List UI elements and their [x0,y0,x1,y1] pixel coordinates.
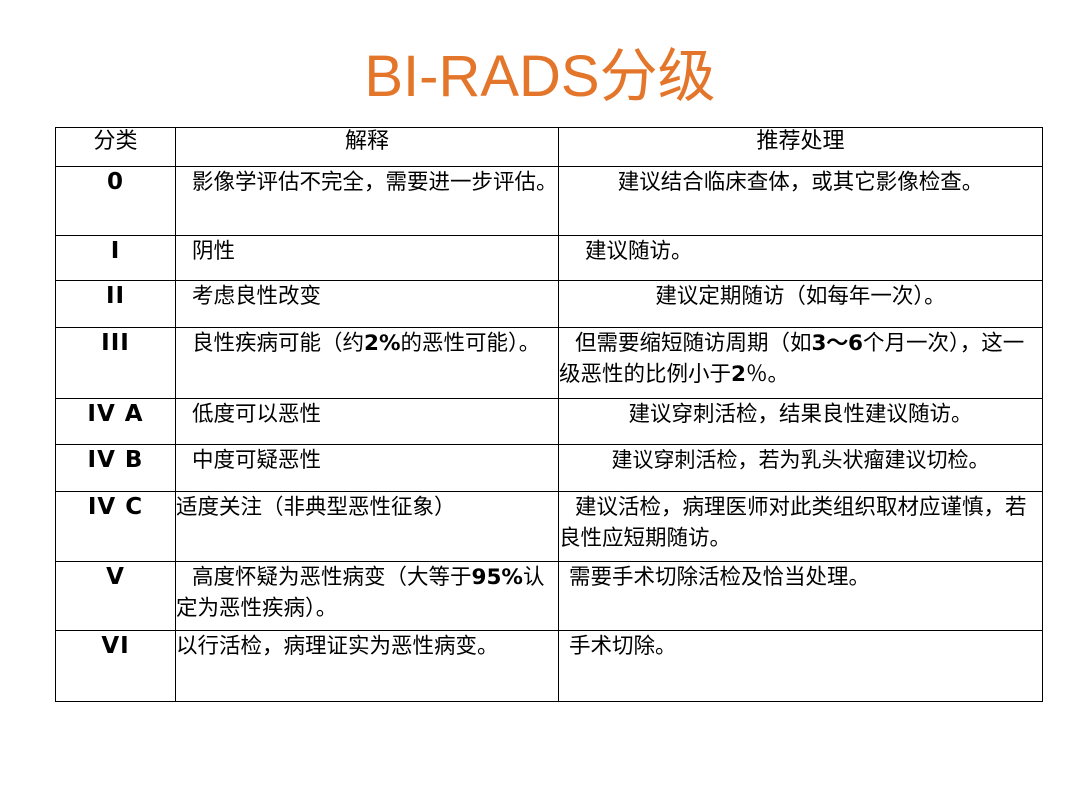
cell-recommendation: 建议随访。 [559,236,1043,281]
cell-category: IV A [56,399,176,445]
cell-explanation-pre: 良性疾病可能（约 [192,331,364,356]
cell-explanation: 以行活检，病理证实为恶性病变。 [176,631,559,702]
cell-category: 0 [56,167,176,236]
table-row: I 阴性 建议随访。 [56,236,1043,281]
cell-recommendation: 建议定期随访（如每年一次）。 [559,281,1043,328]
cell-category: II [56,281,176,328]
cell-recommendation-pre: 但需要缩短随访周期（如 [575,331,812,356]
cell-category: IV C [56,492,176,562]
cell-recommendation-post: ％。 [746,362,789,387]
cell-explanation: 影像学评估不完全，需要进一步评估。 [176,167,559,236]
cell-category: VI [56,631,176,702]
cell-category: I [56,236,176,281]
cell-recommendation: 手术切除。 [559,631,1043,702]
cell-recommendation: 建议活检，病理医师对此类组织取材应谨慎，若良性应短期随访。 [559,492,1043,562]
table-header-row: 分类 解释 推荐处理 [56,128,1043,167]
cell-explanation: 低度可以恶性 [176,399,559,445]
table-row: III 良性疾病可能（约2%的恶性可能）。 但需要缩短随访周期（如3～6个月一次… [56,328,1043,399]
cell-explanation: 考虑良性改变 [176,281,559,328]
cell-recommendation-emphasis-range: 3～6 [812,331,863,356]
table-row: VI 以行活检，病理证实为恶性病变。 手术切除。 [56,631,1043,702]
cell-category: IV B [56,445,176,492]
cell-explanation: 阴性 [176,236,559,281]
table-row: V 高度怀疑为恶性病变（大等于95%认定为恶性疾病）。 需要手术切除活检及恰当处… [56,562,1043,631]
cell-explanation: 适度关注（非典型恶性征象） [176,492,559,562]
cell-recommendation-emphasis-pct: 2 [731,362,746,387]
birads-grading-table: 分类 解释 推荐处理 0 影像学评估不完全，需要进一步评估。 建议结合临床查体，… [55,127,1043,702]
cell-recommendation: 需要手术切除活检及恰当处理。 [559,562,1043,631]
table-row: IV C 适度关注（非典型恶性征象） 建议活检，病理医师对此类组织取材应谨慎，若… [56,492,1043,562]
cell-explanation-post: 的恶性可能）。 [401,331,541,356]
cell-category: V [56,562,176,631]
cell-explanation-pre: 高度怀疑为恶性病变（大等于 [192,565,472,590]
cell-explanation: 良性疾病可能（约2%的恶性可能）。 [176,328,559,399]
cell-recommendation: 建议结合临床查体，或其它影像检查。 [559,167,1043,236]
table-row: IV A 低度可以恶性 建议穿刺活检，结果良性建议随访。 [56,399,1043,445]
table-row: II 考虑良性改变 建议定期随访（如每年一次）。 [56,281,1043,328]
column-header-category: 分类 [56,128,176,167]
table-row: 0 影像学评估不完全，需要进一步评估。 建议结合临床查体，或其它影像检查。 [56,167,1043,236]
slide-canvas: BI-RADS分级 分类 解释 推荐处理 0 影像学评估不完全，需要进一步评估。… [0,0,1080,810]
cell-category: III [56,328,176,399]
cell-recommendation: 建议穿刺活检，结果良性建议随访。 [559,399,1043,445]
cell-explanation: 高度怀疑为恶性病变（大等于95%认定为恶性疾病）。 [176,562,559,631]
page-title-latin: BI-RADS [364,44,599,109]
page-title: BI-RADS分级 [0,44,1080,109]
page-title-han: 分级 [600,42,716,110]
table-row: IV B 中度可疑恶性 建议穿刺活检，若为乳头状瘤建议切检。 [56,445,1043,492]
cell-recommendation: 建议穿刺活检，若为乳头状瘤建议切检。 [559,445,1043,492]
cell-explanation: 中度可疑恶性 [176,445,559,492]
column-header-recommendation: 推荐处理 [559,128,1043,167]
column-header-explanation: 解释 [176,128,559,167]
cell-explanation-emphasis: 2% [364,331,401,356]
cell-explanation-emphasis: 95% [472,565,523,590]
cell-recommendation: 但需要缩短随访周期（如3～6个月一次），这一级恶性的比例小于2％。 [559,328,1043,399]
